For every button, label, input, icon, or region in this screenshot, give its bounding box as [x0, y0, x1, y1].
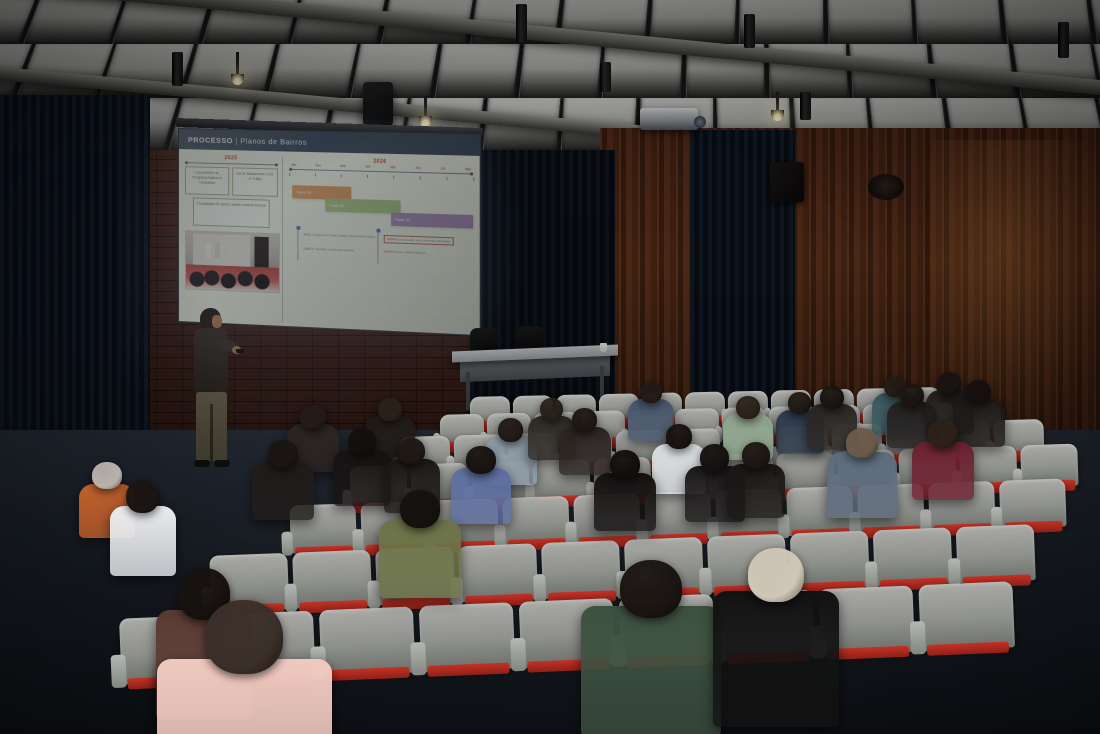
audience-member-head	[126, 480, 159, 513]
info-box-wide: Compilação de dados, bases e leitura téc…	[193, 197, 269, 228]
audience-member-body	[953, 399, 1005, 447]
track-spotlight	[172, 52, 183, 86]
info-box-row: Lançamento do Programa Bairros e Conexõe…	[185, 166, 278, 197]
audience-member-head	[846, 428, 878, 458]
audience-member-head	[400, 490, 440, 528]
presenter-shoe	[194, 460, 210, 467]
milestone-line	[377, 233, 378, 264]
seat-armrest	[510, 638, 526, 672]
ceiling-panel	[1002, 0, 1093, 48]
projection-screen: PROCESSO | Planos de Bairros 2025 Lançam…	[178, 128, 481, 336]
audience-member-head	[736, 396, 760, 419]
audience-member-head	[300, 405, 326, 429]
audience-member-head	[268, 440, 298, 468]
audience-member-body	[581, 606, 721, 734]
audience-member-body	[559, 427, 611, 475]
seat-armrest	[865, 561, 879, 589]
seat-armrest	[284, 583, 298, 611]
ceiling-panel	[21, 0, 124, 48]
auditorium-seat[interactable]	[999, 478, 1067, 528]
audience-member-body	[912, 442, 974, 500]
audience-member-head	[900, 384, 924, 407]
ceiling-panel	[827, 0, 913, 48]
auditorium-seat[interactable]	[502, 496, 570, 546]
audience-member-body	[379, 520, 461, 598]
month-label: Jun	[415, 166, 420, 170]
month-label: Jul	[441, 166, 445, 170]
audience-member-head	[498, 418, 523, 442]
info-box: Lançamento do Programa Bairros e Conexõe…	[185, 166, 230, 195]
audience-member-head	[572, 408, 597, 432]
timeline-axis-left	[185, 162, 278, 165]
month-label: Mai	[390, 165, 395, 169]
auditorium-seat[interactable]	[319, 606, 416, 676]
seat-armrest	[948, 558, 962, 586]
audience-member-head	[205, 600, 283, 674]
month-label: Mar	[340, 164, 346, 168]
auditorium-seat[interactable]	[458, 543, 538, 602]
photo-speaker	[215, 243, 220, 259]
audience-member-head	[348, 428, 376, 455]
track-spotlight	[600, 62, 611, 92]
month-tick	[393, 176, 394, 179]
month-tick	[420, 176, 421, 179]
ceiling-panel	[434, 44, 520, 102]
presenter-shoe	[214, 460, 230, 467]
audience-member-body	[451, 468, 511, 524]
seat-armrest	[410, 642, 426, 676]
presenter-torso	[194, 328, 228, 394]
month-label: Abr	[365, 165, 370, 169]
track-spotlight	[744, 14, 755, 48]
month-tick	[341, 174, 342, 177]
month-label: Ago	[465, 167, 471, 171]
audience-member-head	[466, 446, 496, 474]
presenter-leg-split	[210, 404, 213, 462]
phase-bar: Fase 03	[391, 213, 474, 229]
presenter-clicker	[236, 349, 244, 353]
auditorium-seat[interactable]	[918, 581, 1015, 651]
milestone-line	[297, 230, 298, 261]
projector-lens-icon	[694, 116, 706, 128]
hanging-speaker	[363, 82, 393, 126]
photo-crowd	[186, 264, 279, 292]
auditorium-screenshot: PROCESSO | Planos de Bairros 2025 Lançam…	[0, 0, 1100, 734]
audience-member-head	[378, 398, 402, 421]
audience-member-head	[640, 382, 662, 403]
month-tick	[473, 178, 474, 181]
slide-title-sub: Planos de Bairros	[240, 136, 307, 147]
audience-member-body	[713, 591, 839, 727]
photo-door	[254, 237, 268, 267]
month-tick	[289, 173, 290, 176]
track-spotlight	[800, 92, 811, 120]
audience-member-head	[540, 398, 563, 420]
audience-member-body	[333, 450, 391, 506]
presenter-face	[212, 315, 222, 328]
audience-member-head	[610, 450, 640, 479]
slide-title-separator: |	[235, 136, 237, 145]
seat-armrest	[699, 567, 713, 595]
photo-speaker	[206, 243, 211, 259]
audience-member-head	[398, 438, 425, 464]
month-label: Fev	[315, 163, 321, 167]
wall-fan	[868, 174, 904, 200]
audience-member-head	[620, 560, 682, 618]
seat-armrest	[910, 621, 926, 655]
ceiling-panel	[914, 0, 1003, 48]
presenter	[186, 308, 242, 476]
seat-armrest	[533, 574, 547, 602]
auditorium-seat[interactable]	[419, 602, 516, 672]
slide-column-2026: 2026 JanFevMarAbrMaiJunJulAgo Fase 01Fas…	[283, 156, 473, 330]
phase-bar: Fase 02	[325, 198, 401, 214]
slide-title-main: PROCESSO	[188, 135, 233, 145]
audience-member-head	[938, 372, 961, 394]
month-tick	[315, 174, 316, 177]
auditorium-seat[interactable]	[873, 527, 953, 586]
month-tick	[446, 177, 447, 180]
ceiling-projector	[640, 108, 698, 130]
auditorium-seat[interactable]	[541, 540, 621, 599]
audience-member-head	[928, 420, 958, 448]
milestone-note: 29/05 Retorno Cidade Bairros	[384, 249, 426, 255]
slide-title: PROCESSO | Planos de Bairros	[188, 135, 307, 147]
milestone-annotations: 31/01 Conferência Casa Cidade para a lei…	[289, 226, 473, 272]
seat-armrest	[111, 655, 127, 689]
slide-column-2025: 2025 Lançamento do Programa Bairros e Co…	[185, 154, 283, 322]
info-box: Lei de Alinhamento D.M. nº 3.886	[233, 167, 278, 197]
audience-member-body	[252, 462, 314, 520]
milestone-note: 31/01 Conferência Casa Cidade para a lei…	[303, 232, 375, 239]
ceiling-panel	[518, 44, 602, 102]
slide-photo	[185, 230, 280, 293]
audience-member-body	[594, 473, 656, 531]
wall-speaker	[770, 162, 804, 202]
audience-member-body	[110, 506, 176, 576]
milestone-note: 20/02 1ª reunião técnica intersetorial	[303, 246, 353, 252]
audience-member-head	[92, 462, 122, 489]
audience-member-head	[666, 424, 692, 449]
auditorium-seat[interactable]	[292, 550, 372, 609]
audience-member-head	[742, 442, 770, 469]
month-tick	[367, 175, 368, 178]
auditorium-seat[interactable]	[956, 524, 1036, 583]
milestone-note: 10/04 Apresentação dos primeiros resulta…	[384, 235, 454, 246]
cup-on-table	[600, 343, 607, 352]
audience-member-head	[820, 386, 844, 409]
track-spotlight	[516, 4, 527, 42]
audience-member-body	[827, 452, 897, 518]
audience-member-head	[966, 380, 991, 404]
presentation-slide: PROCESSO | Planos de Bairros 2025 Lançam…	[179, 129, 480, 335]
phase-bars: Fase 01Fase 02Fase 03	[289, 177, 473, 232]
audience-member-head	[700, 444, 729, 472]
year-label-2025: 2025	[185, 154, 278, 162]
month-label: Jan	[291, 163, 296, 167]
audience-member-body	[727, 464, 785, 518]
track-spotlight	[1058, 22, 1069, 58]
audience-member-head	[748, 548, 804, 602]
